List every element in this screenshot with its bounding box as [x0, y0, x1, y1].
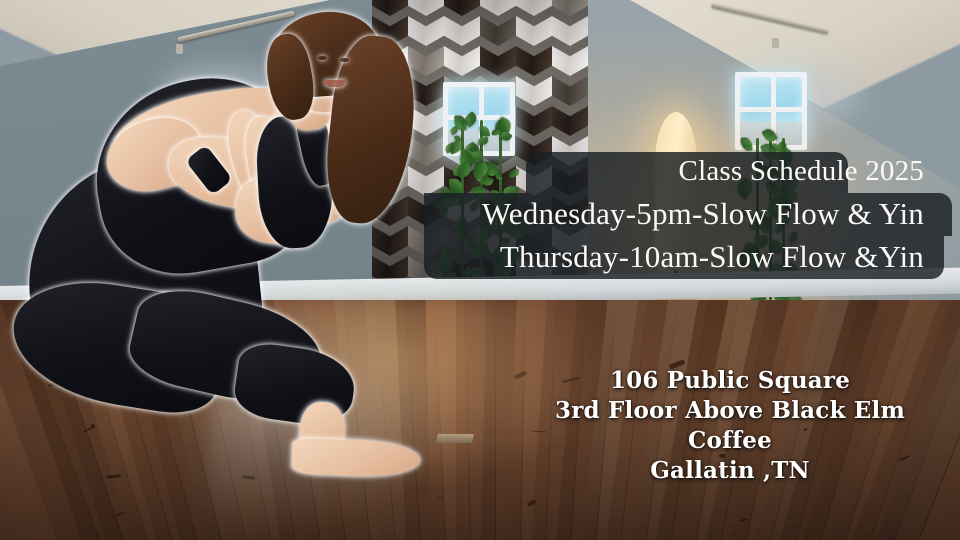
schedule-title-text: Class Schedule 2025	[679, 155, 924, 187]
floor-vent	[436, 434, 474, 443]
eye-left	[340, 58, 349, 62]
schedule-line-title: Class Schedule 2025	[530, 152, 940, 193]
address-block: 106 Public Square 3rd Floor Above Black …	[520, 366, 940, 486]
address-line-business: Coffee	[520, 426, 940, 456]
foot	[291, 438, 420, 478]
schedule-thursday-text: Thursday-10am-Slow Flow &Yin	[500, 239, 924, 274]
address-line-floor: 3rd Floor Above Black Elm	[520, 396, 940, 426]
address-line-city: Gallatin ,TN	[520, 456, 940, 486]
address-line-street: 106 Public Square	[520, 366, 940, 396]
window-mullion-horizontal	[448, 115, 510, 120]
eye-right	[318, 56, 327, 60]
flyer-canvas: Class Schedule 2025 Wednesday-5pm-Slow F…	[0, 0, 960, 540]
schedule-text-panel: Class Schedule 2025 Wednesday-5pm-Slow F…	[410, 152, 940, 279]
rail-bracket-icon	[772, 38, 779, 48]
woman-yoga-pose-cutout	[0, 0, 430, 500]
accent-wall-window	[443, 82, 515, 156]
schedule-line-wednesday: Wednesday-5pm-Slow Flow & Yin	[420, 193, 940, 236]
schedule-wednesday-text: Wednesday-5pm-Slow Flow & Yin	[482, 196, 924, 231]
schedule-line-thursday: Thursday-10am-Slow Flow &Yin	[420, 236, 940, 279]
smile	[324, 80, 346, 87]
